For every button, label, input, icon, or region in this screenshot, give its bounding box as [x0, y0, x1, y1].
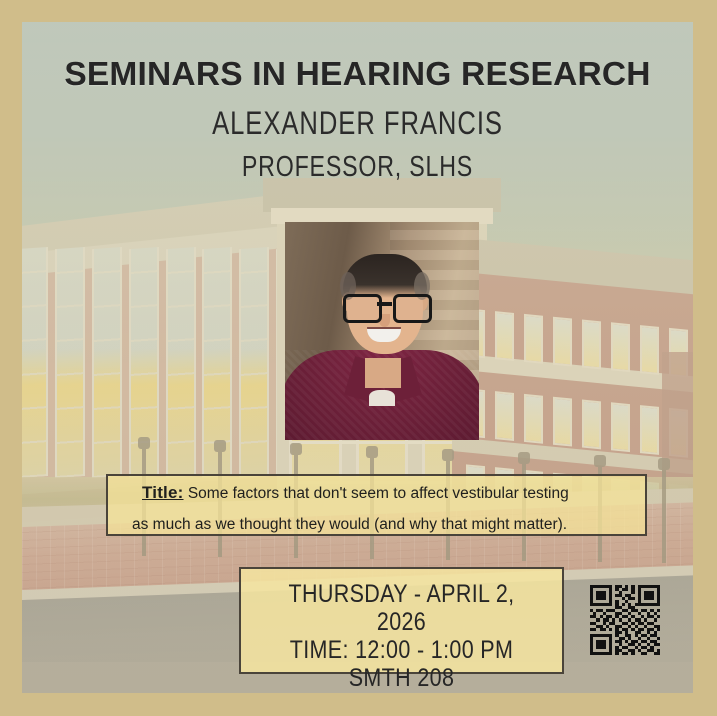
qr-code-container[interactable] — [582, 577, 668, 663]
speaker-role: PROFESSOR, SLHS — [89, 151, 626, 184]
event-date: THURSDAY - APRIL 2, 2026 — [263, 580, 539, 636]
seminar-poster: SEMINARS IN HEARING RESEARCH ALEXANDER F… — [0, 0, 717, 716]
portrait-undershirt — [369, 390, 395, 406]
speaker-name: ALEXANDER FRANCIS — [89, 105, 626, 142]
event-details-box: THURSDAY - APRIL 2, 2026 TIME: 12:00 - 1… — [239, 567, 564, 674]
talk-title-line-1: Title: Some factors that don't seem to a… — [142, 483, 645, 503]
title-label: Title: — [142, 483, 184, 502]
avatar — [285, 222, 479, 440]
glasses-icon — [341, 294, 429, 318]
talk-title-box: Title: Some factors that don't seem to a… — [106, 474, 647, 536]
portrait-neck — [365, 358, 401, 388]
heading-group: SEMINARS IN HEARING RESEARCH ALEXANDER F… — [22, 22, 693, 184]
event-location: SMTH 208 — [263, 664, 539, 692]
page-title: SEMINARS IN HEARING RESEARCH — [22, 56, 693, 94]
talk-title-text-1: Some factors that don't seem to affect v… — [188, 485, 569, 502]
poster-canvas: SEMINARS IN HEARING RESEARCH ALEXANDER F… — [22, 22, 693, 693]
event-time: TIME: 12:00 - 1:00 PM — [263, 636, 539, 664]
qr-code[interactable] — [590, 585, 660, 655]
talk-title-text-2: as much as we thought they would (and wh… — [132, 516, 645, 534]
